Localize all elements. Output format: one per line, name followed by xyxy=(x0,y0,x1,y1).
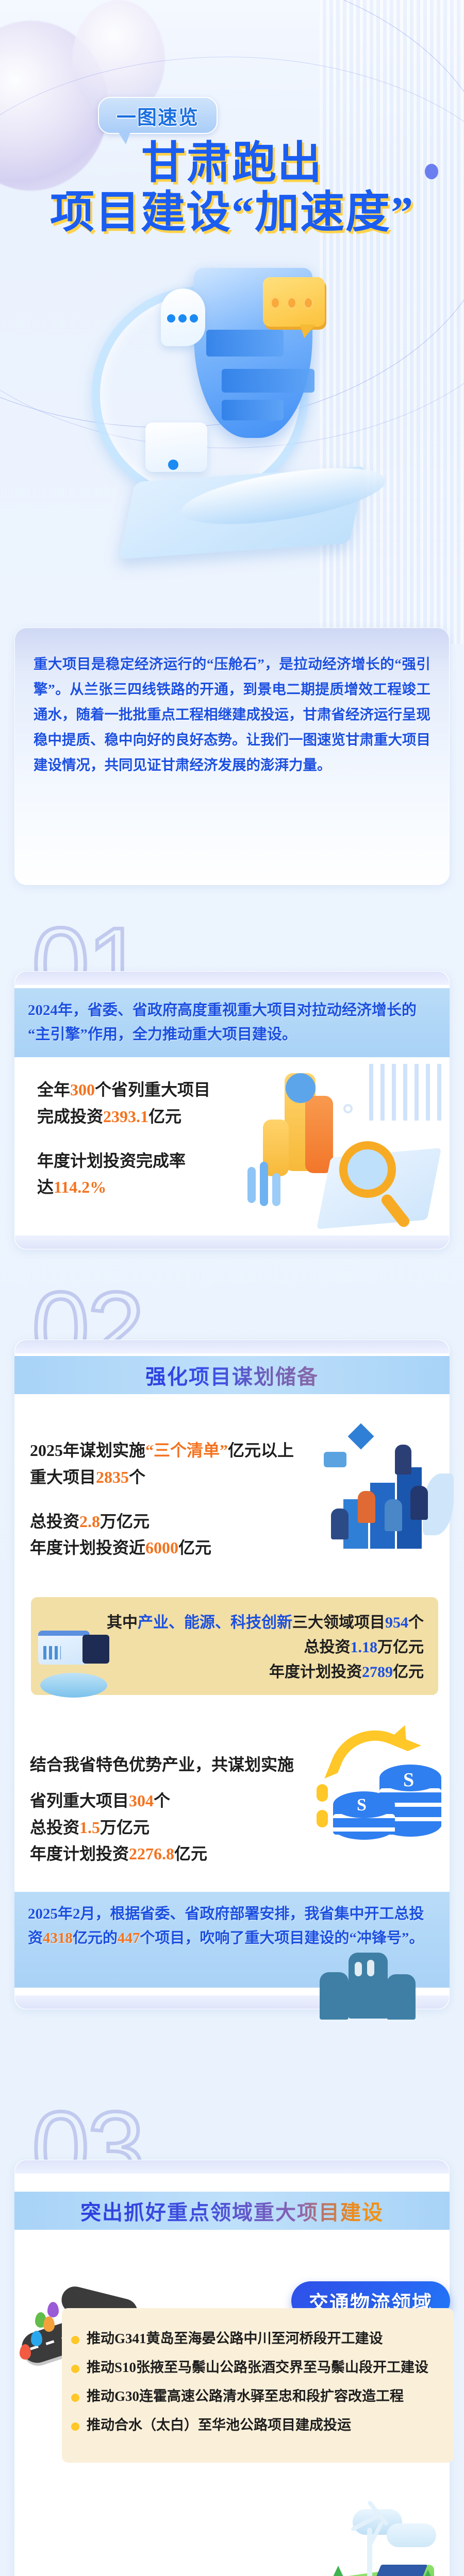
currency-symbol-1: S xyxy=(403,1769,414,1791)
block-a-l3-b: 万亿元 xyxy=(100,1512,150,1531)
block-b-l3-b: 万亿元 xyxy=(100,1818,150,1837)
tree-icon xyxy=(330,2566,346,2576)
dashboard-illustration xyxy=(35,1631,118,1698)
stat-line-4: 达114.2% xyxy=(37,1174,254,1201)
section-01-note: 2024年，省委、省政府高度重视重大项目对拉动经济增长的“主引擎”作用，全力推动… xyxy=(14,988,450,1057)
stat-4-value: 114.2% xyxy=(54,1178,106,1196)
chart-grid-lines xyxy=(369,1064,441,1121)
block-a-l2-a: 重大项目 xyxy=(30,1468,96,1486)
yellow-l1-c: 个 xyxy=(408,1614,424,1631)
card-cap-top xyxy=(15,972,449,985)
block-b-l3-a: 总投资 xyxy=(30,1818,79,1837)
stat-2-prefix: 完成投资 xyxy=(37,1107,103,1126)
bullet-dot-icon xyxy=(71,2336,79,2344)
block-b-l4-hl: 2276.8 xyxy=(129,1844,174,1863)
stat-4-prefix: 达 xyxy=(37,1178,54,1196)
fist-knuckle-2 xyxy=(367,1960,374,1976)
diamond-shape xyxy=(348,1423,374,1450)
hero-illustration xyxy=(72,268,402,556)
solar-panel-icon xyxy=(370,2565,428,2576)
blue-note-part-3: 个项目，吹响了重大项目建设的“冲锋号”。 xyxy=(140,1930,424,1946)
block-b-line-1: 结合我省特色优势产业，共谋划实施 xyxy=(30,1752,319,1778)
stat-line-2: 完成投资2393.1亿元 xyxy=(37,1104,254,1130)
block-b-l2-hl: 304 xyxy=(129,1791,154,1810)
overview-badge-label: 一图速览 xyxy=(117,101,199,130)
blue-note-part-2: 亿元的 xyxy=(73,1930,118,1946)
block-a-l2-b: 个 xyxy=(129,1468,145,1486)
fist-right xyxy=(387,1974,416,2020)
dash-dot-1 xyxy=(317,1784,328,1802)
section-01-stats: 全年300个省列重大项目 完成投资2393.1亿元 年度计划投资完成率 达114… xyxy=(37,1077,254,1201)
dash-dot-2 xyxy=(317,1810,328,1827)
mini-bar-1 xyxy=(247,1167,256,1203)
person-3 xyxy=(385,1499,402,1531)
block-b-l2-b: 个 xyxy=(154,1791,170,1810)
section-02-block-b: 结合我省特色优势产业，共谋划实施 省列重大项目304个 总投资1.5万亿元 年度… xyxy=(30,1752,319,1868)
list-item-text: 推动G30连霍高速公路清水驿至忠和段扩容改造工程 xyxy=(87,2386,404,2407)
page-title-line1: 甘肃跑出 xyxy=(141,138,323,188)
block-b-line-3: 总投资1.5万亿元 xyxy=(30,1815,319,1841)
fist-left xyxy=(320,1972,349,2020)
magnifier-icon xyxy=(339,1141,396,1198)
block-b-l3-hl: 1.5 xyxy=(79,1818,100,1837)
block-a-l1-a: 2025年谋划实施 xyxy=(30,1441,145,1460)
blue-note-hl-1: 4318 xyxy=(43,1930,73,1946)
yellow-l2-hl: 1.18 xyxy=(351,1639,378,1656)
yellow-l1-a: 其中 xyxy=(107,1614,138,1631)
coins-illustration: S S xyxy=(309,1728,454,1852)
map-pin-blue xyxy=(31,2331,42,2346)
blue-note-hl-2: 447 xyxy=(118,1930,140,1946)
tree-icon xyxy=(420,2570,436,2576)
intro-paragraph: 重大项目是稳定经济运行的“压舱石”，是拉动经济增长的“强引擎”。从兰张三四线铁路… xyxy=(34,652,430,778)
hero-section: 一图速览 甘肃跑出 项目建设“加速度” xyxy=(0,0,464,634)
card-cap-top xyxy=(15,2160,449,2174)
card-cap-top xyxy=(15,1340,449,1353)
block-b-l4-b: 亿元 xyxy=(174,1844,207,1863)
team-growth-illustration xyxy=(304,1422,454,1556)
block-a-l2-hl: 2835 xyxy=(96,1468,129,1486)
raised-fists-illustration xyxy=(299,1953,433,2025)
list-item-text: 推动S10张掖至马鬃山公路张酒交界至马鬃山段开工建设 xyxy=(87,2358,428,2378)
yellow-l3-b: 亿元 xyxy=(393,1664,424,1681)
currency-symbol-2: S xyxy=(357,1795,367,1815)
chart-bars-mini xyxy=(43,1646,61,1659)
section-02-title: 强化项目谋划储备 xyxy=(145,1360,319,1390)
bar-3d-blue-cap xyxy=(286,1073,316,1103)
yellow-l3-hl: 2789 xyxy=(362,1664,393,1681)
bullet-dot-icon xyxy=(71,2365,79,2373)
mini-bar-3 xyxy=(272,1173,280,1206)
bullet-dot-icon xyxy=(71,2422,79,2431)
fist-knuckle-1 xyxy=(355,1962,362,1976)
renewable-energy-illustration xyxy=(309,2509,443,2576)
block-a-l4-hl: 6000 xyxy=(145,1538,178,1557)
map-pin-purple xyxy=(47,2302,59,2317)
yellow-l3-a: 年度计划投资 xyxy=(269,1664,362,1681)
overview-badge: 一图速览 xyxy=(98,97,218,134)
block-b-l2-a: 省列重大项目 xyxy=(30,1791,129,1810)
stat-2-value: 2393.1 xyxy=(103,1107,148,1126)
white-chat-bubble-icon xyxy=(161,289,205,346)
block-a-l4-a: 年度计划投资近 xyxy=(30,1538,145,1557)
block-a-l4-b: 亿元 xyxy=(178,1538,211,1557)
cloud-2 xyxy=(387,2523,436,2547)
section-02-title-bar: 强化项目谋划储备 xyxy=(14,1356,450,1394)
bar-3d-mid xyxy=(305,1096,333,1173)
stat-2-suffix: 亿元 xyxy=(148,1107,181,1126)
stat-1-suffix: 个省列重大项目 xyxy=(95,1080,210,1099)
envelope-icon xyxy=(145,422,207,472)
stat-line-3: 年度计划投资完成率 xyxy=(37,1148,254,1175)
person-top xyxy=(395,1445,411,1475)
block-b-line-4: 年度计划投资2276.8亿元 xyxy=(30,1841,319,1868)
list-item-text: 推动合水（太白）至华池公路项目建成投运 xyxy=(87,2415,351,2436)
block-a-l1-hl: “三个清单” xyxy=(145,1441,228,1460)
list-item: 推动G341黄岛至海晏公路中川至河桥段开工建设 xyxy=(71,2329,440,2349)
block-a-l1-b: 亿元以上 xyxy=(228,1441,294,1460)
block-a-l3-hl: 2.8 xyxy=(79,1512,100,1531)
transport-items-list: 推动G341黄岛至海晏公路中川至河桥段开工建设 推动S10张掖至马鬃山公路张酒交… xyxy=(62,2308,454,2463)
person-2 xyxy=(358,1491,375,1523)
list-item-text: 推动G341黄岛至海晏公路中川至河桥段开工建设 xyxy=(87,2329,383,2349)
yellow-l2-a: 总投资 xyxy=(304,1639,351,1656)
yellow-l1-hl: 产业、能源、科技创新 xyxy=(138,1614,292,1631)
stat-line-1: 全年300个省列重大项目 xyxy=(37,1077,254,1104)
block-a-line-1: 2025年谋划实施“三个清单”亿元以上 xyxy=(30,1437,350,1464)
stat-1-value: 300 xyxy=(70,1080,95,1099)
yellow-chat-bubble-icon xyxy=(263,277,325,327)
block-b-line-2: 省列重大项目304个 xyxy=(30,1788,319,1815)
list-item: 推动合水（太白）至华池公路项目建成投运 xyxy=(71,2415,440,2436)
mini-bar-2 xyxy=(260,1162,268,1206)
list-item: 推动G30连霍高速公路清水驿至忠和段扩容改造工程 xyxy=(71,2386,440,2407)
list-item: 推动S10张掖至马鬃山公路张酒交界至马鬃山段开工建设 xyxy=(71,2358,440,2378)
block-b-l4-a: 年度计划投资 xyxy=(30,1844,129,1863)
map-pin-red xyxy=(20,2344,31,2360)
block-a-line-4: 年度计划投资近6000亿元 xyxy=(30,1535,350,1562)
tablet-dark xyxy=(82,1635,109,1664)
analytics-illustration xyxy=(247,1064,443,1239)
server-icon xyxy=(324,1452,346,1467)
block-a-l3-a: 总投资 xyxy=(30,1512,79,1531)
map-pin-orange xyxy=(43,2316,55,2332)
yellow-l1-hl2: 954 xyxy=(385,1614,408,1631)
person-1 xyxy=(331,1509,349,1539)
person-4 xyxy=(410,1486,428,1520)
wind-turbine-mast xyxy=(367,2528,372,2576)
intro-card: 重大项目是稳定经济运行的“压舱石”，是拉动经济增长的“强引擎”。从兰张三四线铁路… xyxy=(14,628,450,885)
page-title-line2: 项目建设“加速度” xyxy=(0,188,464,237)
stat-3-prefix: 年度计划投资完成率 xyxy=(37,1151,186,1170)
yellow-l1-b: 三大领域项目 xyxy=(292,1614,385,1631)
section-02-block-a: 2025年谋划实施“三个清单”亿元以上 重大项目2835个 总投资2.8万亿元 … xyxy=(30,1437,350,1562)
block-a-line-3: 总投资2.8万亿元 xyxy=(30,1509,350,1535)
section-03-title: 突出抓好重点领域重大项目建设 xyxy=(80,2196,384,2226)
yellow-l2-b: 万亿元 xyxy=(377,1639,424,1656)
page-title: 甘肃跑出 项目建设“加速度” xyxy=(0,138,464,238)
dish-base xyxy=(40,1673,107,1698)
section-03-title-bar: 突出抓好重点领域重大项目建设 xyxy=(14,2192,450,2230)
bullet-dot-icon xyxy=(71,2394,79,2402)
gear-icon xyxy=(343,1104,353,1113)
stat-1-prefix: 全年 xyxy=(37,1080,70,1099)
block-a-line-2: 重大项目2835个 xyxy=(30,1464,350,1491)
